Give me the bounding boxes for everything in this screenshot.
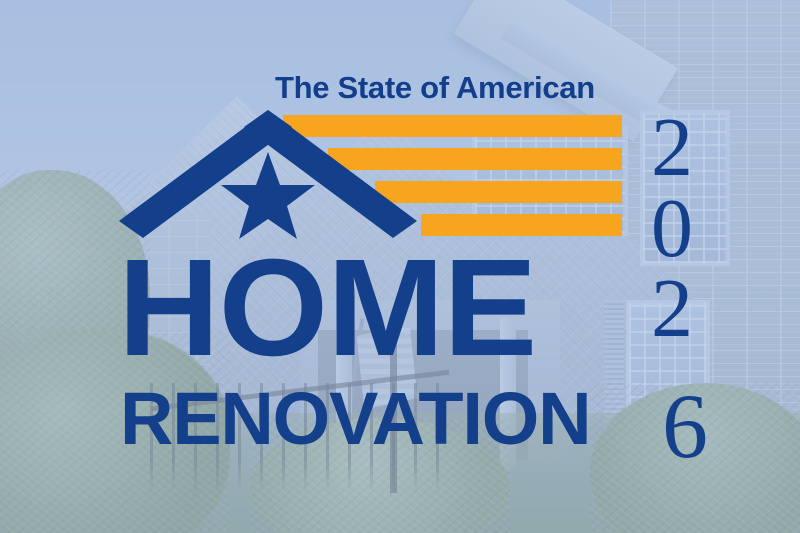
headline-home: HOME xyxy=(118,239,536,377)
year-digit-4: 6 xyxy=(662,380,708,472)
logo-layer: The State of American HOME RENOVATION 2 … xyxy=(0,0,800,533)
kicker-text: The State of American xyxy=(275,70,595,106)
year-digit-3: 2 xyxy=(640,269,704,350)
title-graphic-canvas: The State of American HOME RENOVATION 2 … xyxy=(0,0,800,533)
year-digit-2: 0 xyxy=(640,189,704,270)
headline-renovation: RENOVATION xyxy=(120,382,590,456)
year-digit-1: 2 xyxy=(640,108,704,189)
year-stacked: 2 0 2 xyxy=(640,108,704,350)
